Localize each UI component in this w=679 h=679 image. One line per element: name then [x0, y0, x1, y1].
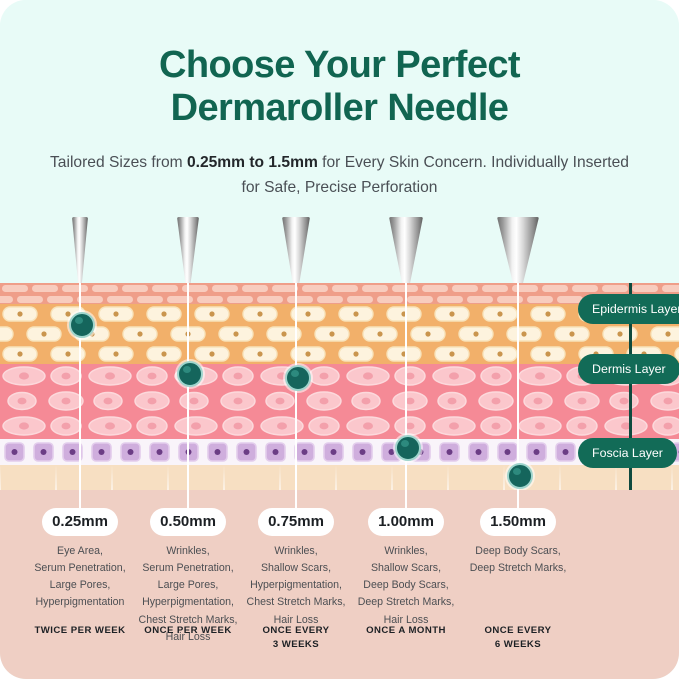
needle-3	[389, 217, 423, 283]
subtitle-prefix: Tailored Sizes from	[50, 154, 187, 171]
layer-label-text: Epidermis Layer	[592, 302, 679, 316]
header-section: Choose Your Perfect Dermaroller Needle T…	[0, 0, 679, 283]
size-pill-2[interactable]: 0.75mm	[258, 508, 334, 536]
needle-2	[282, 217, 310, 283]
needle-depth-dot-1	[177, 361, 203, 387]
indications-2: Wrinkles, Shallow Scars, Hyperpigmentati…	[233, 543, 359, 629]
subtitle-range: 0.25mm to 1.5mm	[187, 154, 318, 171]
size-label: 1.00mm	[378, 513, 434, 530]
page-subtitle: Tailored Sizes from 0.25mm to 1.5mm for …	[40, 150, 640, 201]
layer-label-epidermis: Epidermis Layer	[578, 294, 679, 324]
size-label: 0.50mm	[160, 513, 216, 530]
dermis-cells-icon	[0, 364, 679, 439]
needle-depth-dot-0	[69, 312, 95, 338]
size-label: 1.50mm	[490, 513, 546, 530]
layer-label-text: Foscia Layer	[592, 446, 663, 460]
size-label: 0.75mm	[268, 513, 324, 530]
indications-3: Wrinkles, Shallow Scars, Deep Body Scars…	[343, 543, 469, 629]
needle-shaft	[177, 217, 199, 283]
needle-depth-dot-2	[285, 365, 311, 391]
epidermis-cells-icon	[0, 304, 679, 364]
layer-label-text: Dermis Layer	[592, 362, 666, 376]
needle-shaft	[497, 217, 539, 283]
frequency-2: ONCE EVERY 3 WEEKS	[233, 624, 359, 653]
size-label: 0.25mm	[52, 513, 108, 530]
needle-1	[177, 217, 199, 283]
stratum-corneum-bricks-icon	[0, 283, 679, 304]
indications-4: Deep Body Scars, Deep Stretch Marks,	[455, 543, 581, 577]
needle-depth-dot-4	[507, 463, 533, 489]
title-line-1: Choose Your Perfect	[159, 44, 520, 86]
size-pill-0[interactable]: 0.25mm	[42, 508, 118, 536]
size-pill-1[interactable]: 0.50mm	[150, 508, 226, 536]
layer-label-foscia: Foscia Layer	[578, 438, 677, 468]
layer-label-dermis: Dermis Layer	[578, 354, 679, 384]
title-line-2: Dermaroller Needle	[0, 87, 679, 130]
needle-details-section: 0.25mm Eye Area, Serum Penetration, Larg…	[0, 490, 679, 679]
needle-4	[497, 217, 539, 283]
needle-0	[72, 217, 88, 283]
needle-depth-dot-3	[395, 435, 421, 461]
skin-cross-section	[0, 283, 679, 490]
frequency-3: ONCE A MONTH	[343, 624, 469, 638]
needle-shaft	[389, 217, 423, 283]
needle-track-4	[517, 283, 519, 490]
needle-shaft	[72, 217, 88, 283]
infographic-card: Choose Your Perfect Dermaroller Needle T…	[0, 0, 679, 679]
needle-shaft	[282, 217, 310, 283]
size-pill-3[interactable]: 1.00mm	[368, 508, 444, 536]
frequency-4: ONCE EVERY 6 WEEKS	[455, 624, 581, 653]
size-pill-4[interactable]: 1.50mm	[480, 508, 556, 536]
page-title: Choose Your Perfect Dermaroller Needle	[0, 44, 679, 131]
fascia-lattice-overlay	[0, 465, 679, 490]
